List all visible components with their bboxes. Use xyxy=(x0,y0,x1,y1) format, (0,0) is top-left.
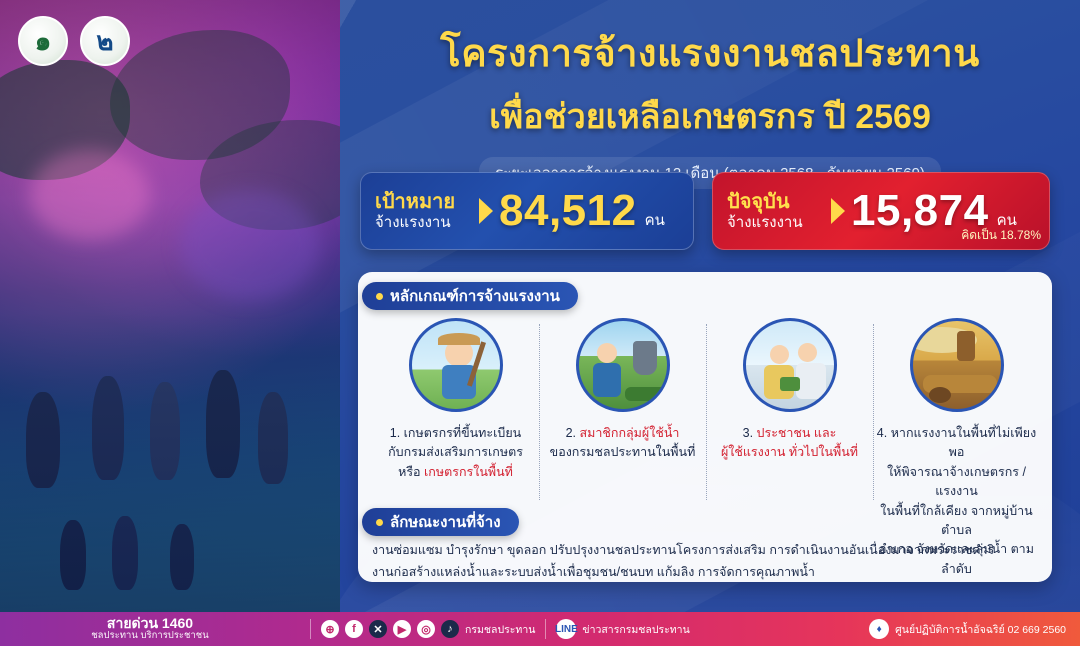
light-blob xyxy=(30,150,150,240)
crop-row-shape xyxy=(625,387,670,401)
harvest-field-icon xyxy=(910,318,1004,412)
criteria-1-line-3: หรือ เกษตรกรในพื้นที่ xyxy=(372,463,539,482)
watering-can-shape xyxy=(633,341,657,375)
criteria-1-caption: 1. เกษตรกรที่ขี้นทะเบียน กับกรมส่งเสริมก… xyxy=(372,424,539,482)
worker-figure xyxy=(957,331,975,361)
infographic-poster: ๑ ๒ โครงการจ้างแรงงานชลประทาน เพื่อช่วยเ… xyxy=(0,0,1080,646)
goal-label: เป้าหมาย จ้างแรงงาน xyxy=(361,191,479,231)
heading-line-2: เพื่อช่วยเหลือเกษตรกร ปี 2569 xyxy=(340,89,1080,143)
criteria-2-caption: 2. สมาชิกกลุ่มผู้ใช้น้ำ ของกรมชลประทานใน… xyxy=(539,424,706,463)
criteria-3-line-1: 3. ประชาชน และ xyxy=(706,424,873,443)
light-blob xyxy=(180,190,320,300)
footer-right-group: ♦ ศูนย์ปฏิบัติการน้ำอัจฉริย์ 02 669 2560 xyxy=(869,619,1080,639)
stat-card-current: ปัจจุบัน จ้างแรงงาน 15,874 คน คิดเป็น 18… xyxy=(712,172,1050,250)
hotline-title: สายด่วน 1460 xyxy=(0,616,300,631)
face-shape xyxy=(770,345,789,364)
criteria-1-line-3-plain: หรือ xyxy=(398,465,424,479)
criteria-section-title: หลักเกณฑ์การจ้างแรงงาน xyxy=(362,282,578,310)
bullet-dot-icon xyxy=(376,293,383,300)
hotline-subtitle: ชลประทาน บริการประชาชน xyxy=(0,631,300,641)
royal-emblem-logo: ๑ xyxy=(18,16,68,66)
farmer-with-hoe-icon xyxy=(409,318,503,412)
current-percent: คิดเป็น 18.78% xyxy=(961,226,1041,245)
criteria-4-line-3: ในพื้นที่ใกล้เคียง จากหมู่บ้าน ตำบล xyxy=(873,502,1040,541)
criteria-3-caption: 3. ประชาชน และ ผู้ใช้แรงงาน ทั่วไปในพื้น… xyxy=(706,424,873,463)
center-label: ศูนย์ปฏิบัติการน้ำอัจฉริย์ 02 669 2560 xyxy=(895,621,1066,638)
jobs-line-2: งานก่อสร้างแหล่งน้ำและระบบส่งน้ำเพื่อชุม… xyxy=(372,562,1032,584)
jobs-section-title: ลักษณะงานที่จ้าง xyxy=(362,508,519,536)
heading-line-1: โครงการจ้างแรงงานชลประทาน xyxy=(340,22,1080,83)
goal-unit: คน xyxy=(645,208,665,232)
current-arrow-icon xyxy=(831,198,845,224)
criteria-1-line-1: 1. เกษตรกรที่ขี้นทะเบียน xyxy=(372,424,539,443)
line-label: ข่าวสารกรมชลประทาน xyxy=(582,621,689,638)
hat-shape xyxy=(438,333,480,345)
bullet-dot-icon xyxy=(376,519,383,526)
photo-bottom-gradient xyxy=(0,312,340,612)
line-app-icon[interactable]: LINE xyxy=(556,619,576,639)
overalls-shape xyxy=(593,363,621,397)
criteria-2-line-1: 2. สมาชิกกลุ่มผู้ใช้น้ำ xyxy=(539,424,706,443)
criteria-2-line-1-highlight: สมาชิกกลุ่มผู้ใช้น้ำ xyxy=(580,426,680,440)
face-shape xyxy=(798,343,817,362)
criteria-1-line-2: กับกรมส่งเสริมการเกษตร xyxy=(372,443,539,462)
facebook-icon[interactable]: f xyxy=(345,620,363,638)
criteria-1-line-3-highlight: เกษตรกรในพื้นที่ xyxy=(424,465,513,479)
rid-label: กรมชลประทาน xyxy=(465,621,535,638)
rid-department-logo: ๒ xyxy=(80,16,130,66)
youtube-icon[interactable]: ▶ xyxy=(393,620,411,638)
goal-label-bottom: จ้างแรงงาน xyxy=(375,214,479,231)
jobs-line-1: งานซ่อมแซม บำรุงรักษา ขุดลอก ปรับปรุงงาน… xyxy=(372,540,1032,562)
buffalo-shape xyxy=(929,387,951,403)
criteria-title-text: หลักเกณฑ์การจ้างแรงงาน xyxy=(390,284,560,308)
water-user-group-icon xyxy=(576,318,670,412)
footer-divider xyxy=(545,619,546,639)
water-operations-center-icon: ♦ xyxy=(869,619,889,639)
x-twitter-icon[interactable]: ✕ xyxy=(369,620,387,638)
current-label: ปัจจุบัน จ้างแรงงาน xyxy=(713,191,831,231)
poster-heading: โครงการจ้างแรงงานชลประทาน เพื่อช่วยเหลือ… xyxy=(340,22,1080,189)
criteria-3-line-2: ผู้ใช้แรงงาน ทั่วไปในพื้นที่ xyxy=(706,443,873,462)
face-shape xyxy=(597,343,617,363)
field-workers-photo: ๑ ๒ xyxy=(0,0,340,612)
criteria-3-line-1-highlight: ประชาชน และ xyxy=(757,426,837,440)
criteria-4-line-1: 4. หากแรงงานในพื้นที่ไม่เพียงพอ xyxy=(873,424,1040,463)
goal-label-top: เป้าหมาย xyxy=(375,191,479,214)
criteria-3-line-1-plain: 3. xyxy=(743,426,757,440)
goal-arrow-icon xyxy=(479,198,493,224)
person-body-shape xyxy=(796,363,826,399)
general-public-icon xyxy=(743,318,837,412)
goal-value: 84,512 xyxy=(499,186,637,236)
footer-divider xyxy=(310,619,311,639)
royal-emblem-glyph: ๑ xyxy=(35,28,52,54)
rid-logo-glyph: ๒ xyxy=(96,28,113,54)
social-icons: ⊕ f ✕ ▶ ◎ ♪ xyxy=(321,620,459,638)
globe-icon[interactable]: ⊕ xyxy=(321,620,339,638)
criteria-4-line-2: ให้พิจารณาจ้างเกษตรกร / แรงงาน xyxy=(873,463,1040,502)
footer-bar: สายด่วน 1460 ชลประทาน บริการประชาชน ⊕ f … xyxy=(0,612,1080,646)
stat-card-goal: เป้าหมาย จ้างแรงงาน 84,512 คน xyxy=(360,172,694,250)
current-label-bottom: จ้างแรงงาน xyxy=(727,214,831,231)
criteria-2-line-1-plain: 2. xyxy=(566,426,580,440)
jobs-title-text: ลักษณะงานที่จ้าง xyxy=(390,510,501,534)
plant-box-shape xyxy=(780,377,800,391)
hotline-block: สายด่วน 1460 ชลประทาน บริการประชาชน xyxy=(0,616,300,642)
tiktok-icon[interactable]: ♪ xyxy=(441,620,459,638)
current-label-top: ปัจจุบัน xyxy=(727,191,831,214)
jobs-description: งานซ่อมแซม บำรุงรักษา ขุดลอก ปรับปรุงงาน… xyxy=(372,540,1032,584)
instagram-icon[interactable]: ◎ xyxy=(417,620,435,638)
criteria-2-line-2: ของกรมชลประทานในพื้นที่ xyxy=(539,443,706,462)
